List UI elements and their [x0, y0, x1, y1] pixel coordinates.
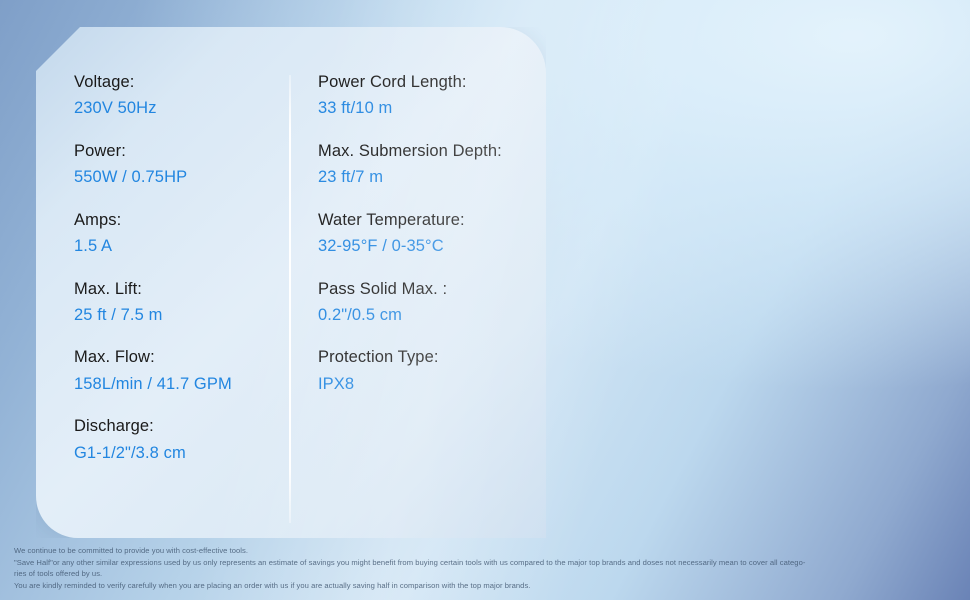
spec-label-max-flow: Max. Flow: — [74, 346, 290, 369]
spec-label-max-lift: Max. Lift: — [74, 278, 290, 301]
spec-label-discharge: Discharge: — [74, 415, 290, 438]
spec-item-water-temperature: Water Temperature: 32-95°F / 0-35°C — [318, 209, 546, 259]
spec-item-voltage: Voltage: 230V 50Hz — [74, 71, 290, 121]
spec-value-voltage: 230V 50Hz — [74, 97, 290, 120]
spec-label-voltage: Voltage: — [74, 71, 290, 94]
spec-label-amps: Amps: — [74, 209, 290, 232]
spec-label-pass-solid-max: Pass Solid Max. : — [318, 278, 546, 301]
spec-item-power-cord-length: Power Cord Length: 33 ft/10 m — [318, 71, 546, 121]
spec-item-power: Power: 550W / 0.75HP — [74, 140, 290, 190]
disclaimer-line-2: "Save Half"or any other similar expressi… — [14, 557, 958, 569]
disclaimer-text: We continue to be committed to provide y… — [14, 545, 958, 591]
spec-value-power-cord-length: 33 ft/10 m — [318, 97, 546, 120]
disclaimer-line-4: You are kindly reminded to verify carefu… — [14, 580, 958, 592]
disclaimer-line-3: ries of tools offered by us. — [14, 568, 958, 580]
spec-label-protection-type: Protection Type: — [318, 346, 546, 369]
spec-column-left: Voltage: 230V 50Hz Power: 550W / 0.75HP … — [36, 27, 290, 538]
disclaimer-line-1: We continue to be committed to provide y… — [14, 545, 958, 557]
spec-label-water-temperature: Water Temperature: — [318, 209, 546, 232]
spec-item-protection-type: Protection Type: IPX8 — [318, 346, 546, 396]
product-spec-banner: Voltage: 230V 50Hz Power: 550W / 0.75HP … — [0, 0, 970, 600]
spec-value-pass-solid-max: 0.2"/0.5 cm — [318, 304, 546, 327]
spec-label-power-cord-length: Power Cord Length: — [318, 71, 546, 94]
specifications-card: Voltage: 230V 50Hz Power: 550W / 0.75HP … — [36, 27, 546, 538]
spec-item-max-lift: Max. Lift: 25 ft / 7.5 m — [74, 278, 290, 328]
spec-value-amps: 1.5 A — [74, 235, 290, 258]
spec-value-protection-type: IPX8 — [318, 373, 546, 396]
spec-value-water-temperature: 32-95°F / 0-35°C — [318, 235, 546, 258]
spec-item-pass-solid-max: Pass Solid Max. : 0.2"/0.5 cm — [318, 278, 546, 328]
spec-column-right: Power Cord Length: 33 ft/10 m Max. Subme… — [290, 27, 546, 538]
spec-value-power: 550W / 0.75HP — [74, 166, 290, 189]
spec-label-power: Power: — [74, 140, 290, 163]
product-image-area: 9.3in / 23.6cm 6in / 15.6cm 6in / 15.6cm — [560, 0, 970, 545]
spec-item-discharge: Discharge: G1-1/2"/3.8 cm — [74, 415, 290, 465]
spec-value-discharge: G1-1/2"/3.8 cm — [74, 442, 290, 465]
spec-value-max-flow: 158L/min / 41.7 GPM — [74, 373, 290, 396]
spec-item-max-flow: Max. Flow: 158L/min / 41.7 GPM — [74, 346, 290, 396]
spec-item-amps: Amps: 1.5 A — [74, 209, 290, 259]
spec-value-max-lift: 25 ft / 7.5 m — [74, 304, 290, 327]
spec-item-max-submersion-depth: Max. Submersion Depth: 23 ft/7 m — [318, 140, 546, 190]
spec-value-max-submersion-depth: 23 ft/7 m — [318, 166, 546, 189]
spec-label-max-submersion-depth: Max. Submersion Depth: — [318, 140, 546, 163]
